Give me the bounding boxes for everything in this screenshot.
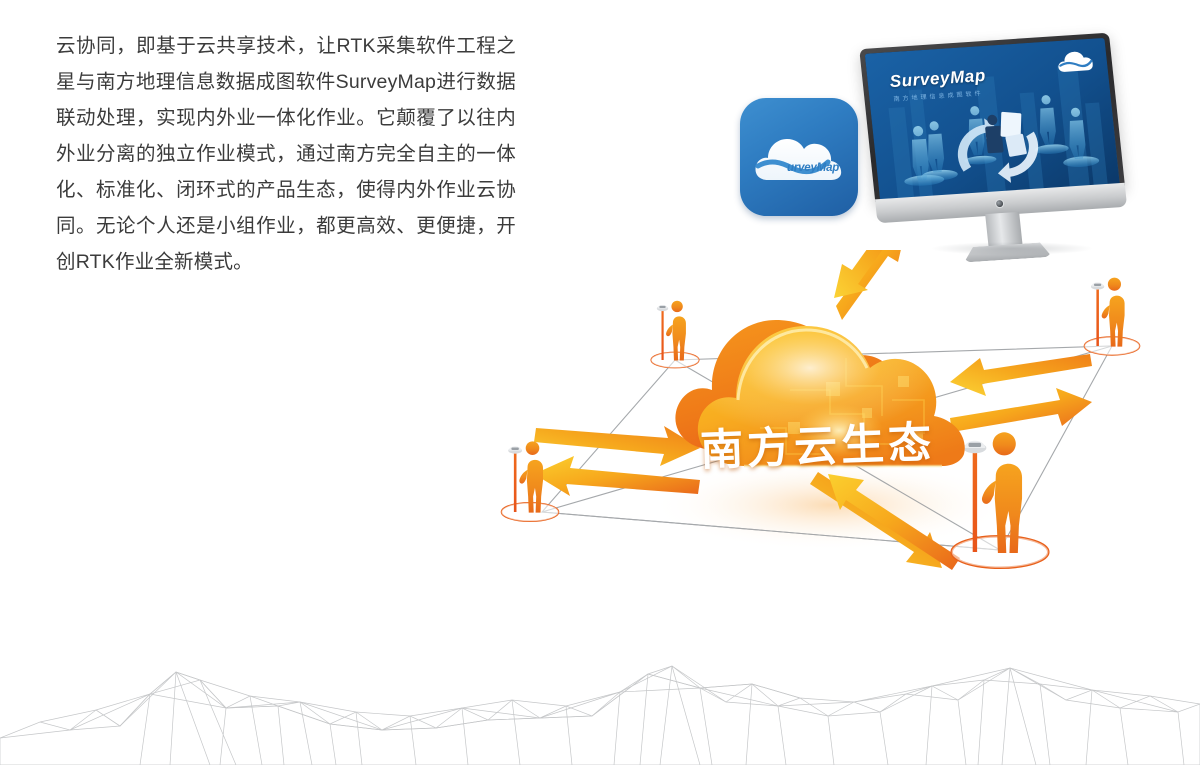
article-paragraph: 云协同，即基于云共享技术，让RTK采集软件工程之星与南方地理信息数据成图软件Su… [56,28,516,280]
article-body-text: 云协同，即基于云共享技术，让RTK采集软件工程之星与南方地理信息数据成图软件Su… [56,28,516,280]
cloud-icon [754,128,844,186]
cloud-ecosystem-illustration: urveyMap [500,0,1200,680]
monitor-bezel: SurveyMap 南方地理信息成图软件 [859,33,1125,205]
desktop-monitor: SurveyMap 南方地理信息成图软件 [859,32,1141,258]
node-right[interactable] [1084,278,1139,355]
cloud-ecosystem-shape: 南方云生态 [640,280,1010,510]
app-icon-label: urveyMap [787,162,839,174]
monitor-screen: SurveyMap 南方地理信息成图软件 [865,38,1120,204]
surveymap-app-icon[interactable]: urveyMap [740,98,858,216]
screen-cloud-icon [1055,49,1095,75]
cloud-label: 南方云生态 [699,408,936,478]
cloud-shape-icon [640,280,1010,510]
wireframe-mountains-icon [0,650,1200,765]
